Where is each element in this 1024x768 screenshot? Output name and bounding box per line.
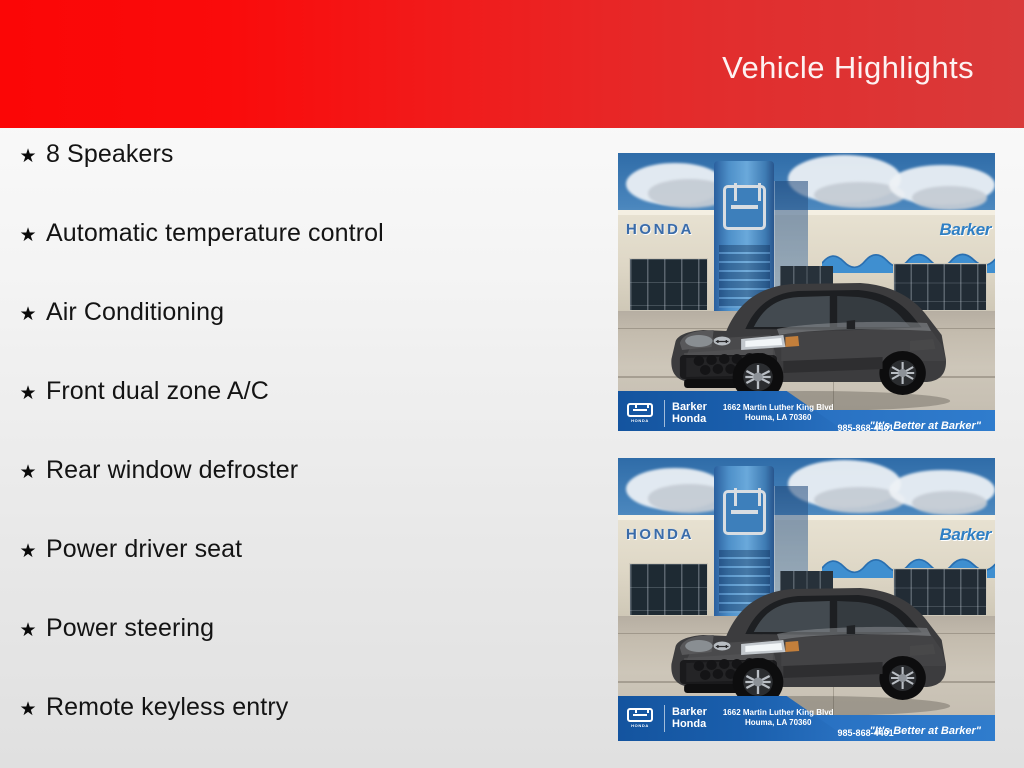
feature-label: 8 Speakers (46, 140, 173, 169)
honda-hrv-vehicle (644, 261, 961, 411)
list-item: ★ Air Conditioning (0, 298, 600, 377)
honda-hrv-vehicle (644, 566, 961, 716)
dealership-scene: HONDA Barker (618, 153, 995, 431)
feature-label: Air Conditioning (46, 298, 224, 327)
list-item: ★ 8 Speakers (0, 140, 600, 219)
honda-building-sign: HONDA (626, 526, 694, 543)
cloud (912, 491, 987, 515)
dealer-address: 1662 Martin Luther King Blvd Houma, LA 7… (723, 708, 834, 728)
star-bullet-icon: ★ (12, 147, 44, 166)
barker-building-sign: Barker (940, 525, 991, 545)
feature-label: Power steering (46, 614, 214, 643)
cloud (912, 186, 987, 210)
honda-h-emblem-icon (723, 490, 766, 535)
star-bullet-icon: ★ (12, 542, 44, 561)
honda-logo-icon: HONDA (623, 403, 657, 423)
vehicle-photo-1[interactable]: HONDA Barker (618, 153, 995, 431)
list-item: ★ Power driver seat (0, 535, 600, 614)
list-item: ★ Remote keyless entry (0, 693, 600, 768)
honda-building-sign: HONDA (626, 221, 694, 238)
vehicle-illustration (644, 566, 961, 716)
dealer-name-line1: Barker (672, 401, 707, 413)
dealer-name: Barker Honda (672, 706, 707, 731)
star-bullet-icon: ★ (12, 621, 44, 640)
dealer-address-line2: Houma, LA 70360 (723, 413, 834, 423)
vehicle-highlights-list: ★ 8 Speakers ★ Automatic temperature con… (0, 140, 600, 768)
dealer-name-line1: Barker (672, 706, 707, 718)
dealer-banner: HONDA Barker Honda 1662 Martin Luther Ki… (618, 391, 995, 431)
honda-wordmark: HONDA (623, 418, 657, 423)
honda-logo-icon: HONDA (623, 708, 657, 728)
dealer-banner: HONDA Barker Honda 1662 Martin Luther Ki… (618, 696, 995, 741)
star-bullet-icon: ★ (12, 226, 44, 245)
dealer-name-line2: Honda (672, 413, 707, 425)
dealer-tagline: "It's Better at Barker" (870, 420, 981, 431)
dealership-scene: HONDA Barker (618, 458, 995, 741)
feature-label: Automatic temperature control (46, 219, 384, 248)
barker-building-sign: Barker (940, 220, 991, 240)
page-header: Vehicle Highlights (0, 0, 1024, 128)
honda-h-mark-icon (627, 708, 653, 722)
list-item: ★ Power steering (0, 614, 600, 693)
banner-divider (664, 400, 665, 427)
feature-label: Power driver seat (46, 535, 242, 564)
dealer-name: Barker Honda (672, 401, 707, 426)
feature-label: Rear window defroster (46, 456, 298, 485)
banner-divider (664, 705, 665, 732)
vehicle-photo-2[interactable]: HONDA Barker (618, 458, 995, 741)
dealer-name-line2: Honda (672, 718, 707, 730)
dealer-address-line1: 1662 Martin Luther King Blvd (723, 708, 834, 718)
feature-label: Front dual zone A/C (46, 377, 269, 406)
honda-h-emblem-icon (723, 185, 766, 230)
vehicle-illustration (644, 261, 961, 411)
list-item: ★ Automatic temperature control (0, 219, 600, 298)
dealer-address-line1: 1662 Martin Luther King Blvd (723, 403, 834, 413)
dealer-address-line2: Houma, LA 70360 (723, 718, 834, 728)
honda-wordmark: HONDA (623, 723, 657, 728)
list-item: ★ Rear window defroster (0, 456, 600, 535)
page-title: Vehicle Highlights (722, 52, 1024, 83)
star-bullet-icon: ★ (12, 463, 44, 482)
dealer-address: 1662 Martin Luther King Blvd Houma, LA 7… (723, 403, 834, 423)
dealer-tagline: "It's Better at Barker" (870, 725, 981, 737)
feature-label: Remote keyless entry (46, 693, 288, 722)
list-item: ★ Front dual zone A/C (0, 377, 600, 456)
star-bullet-icon: ★ (12, 384, 44, 403)
star-bullet-icon: ★ (12, 305, 44, 324)
honda-h-mark-icon (627, 403, 653, 417)
star-bullet-icon: ★ (12, 700, 44, 719)
